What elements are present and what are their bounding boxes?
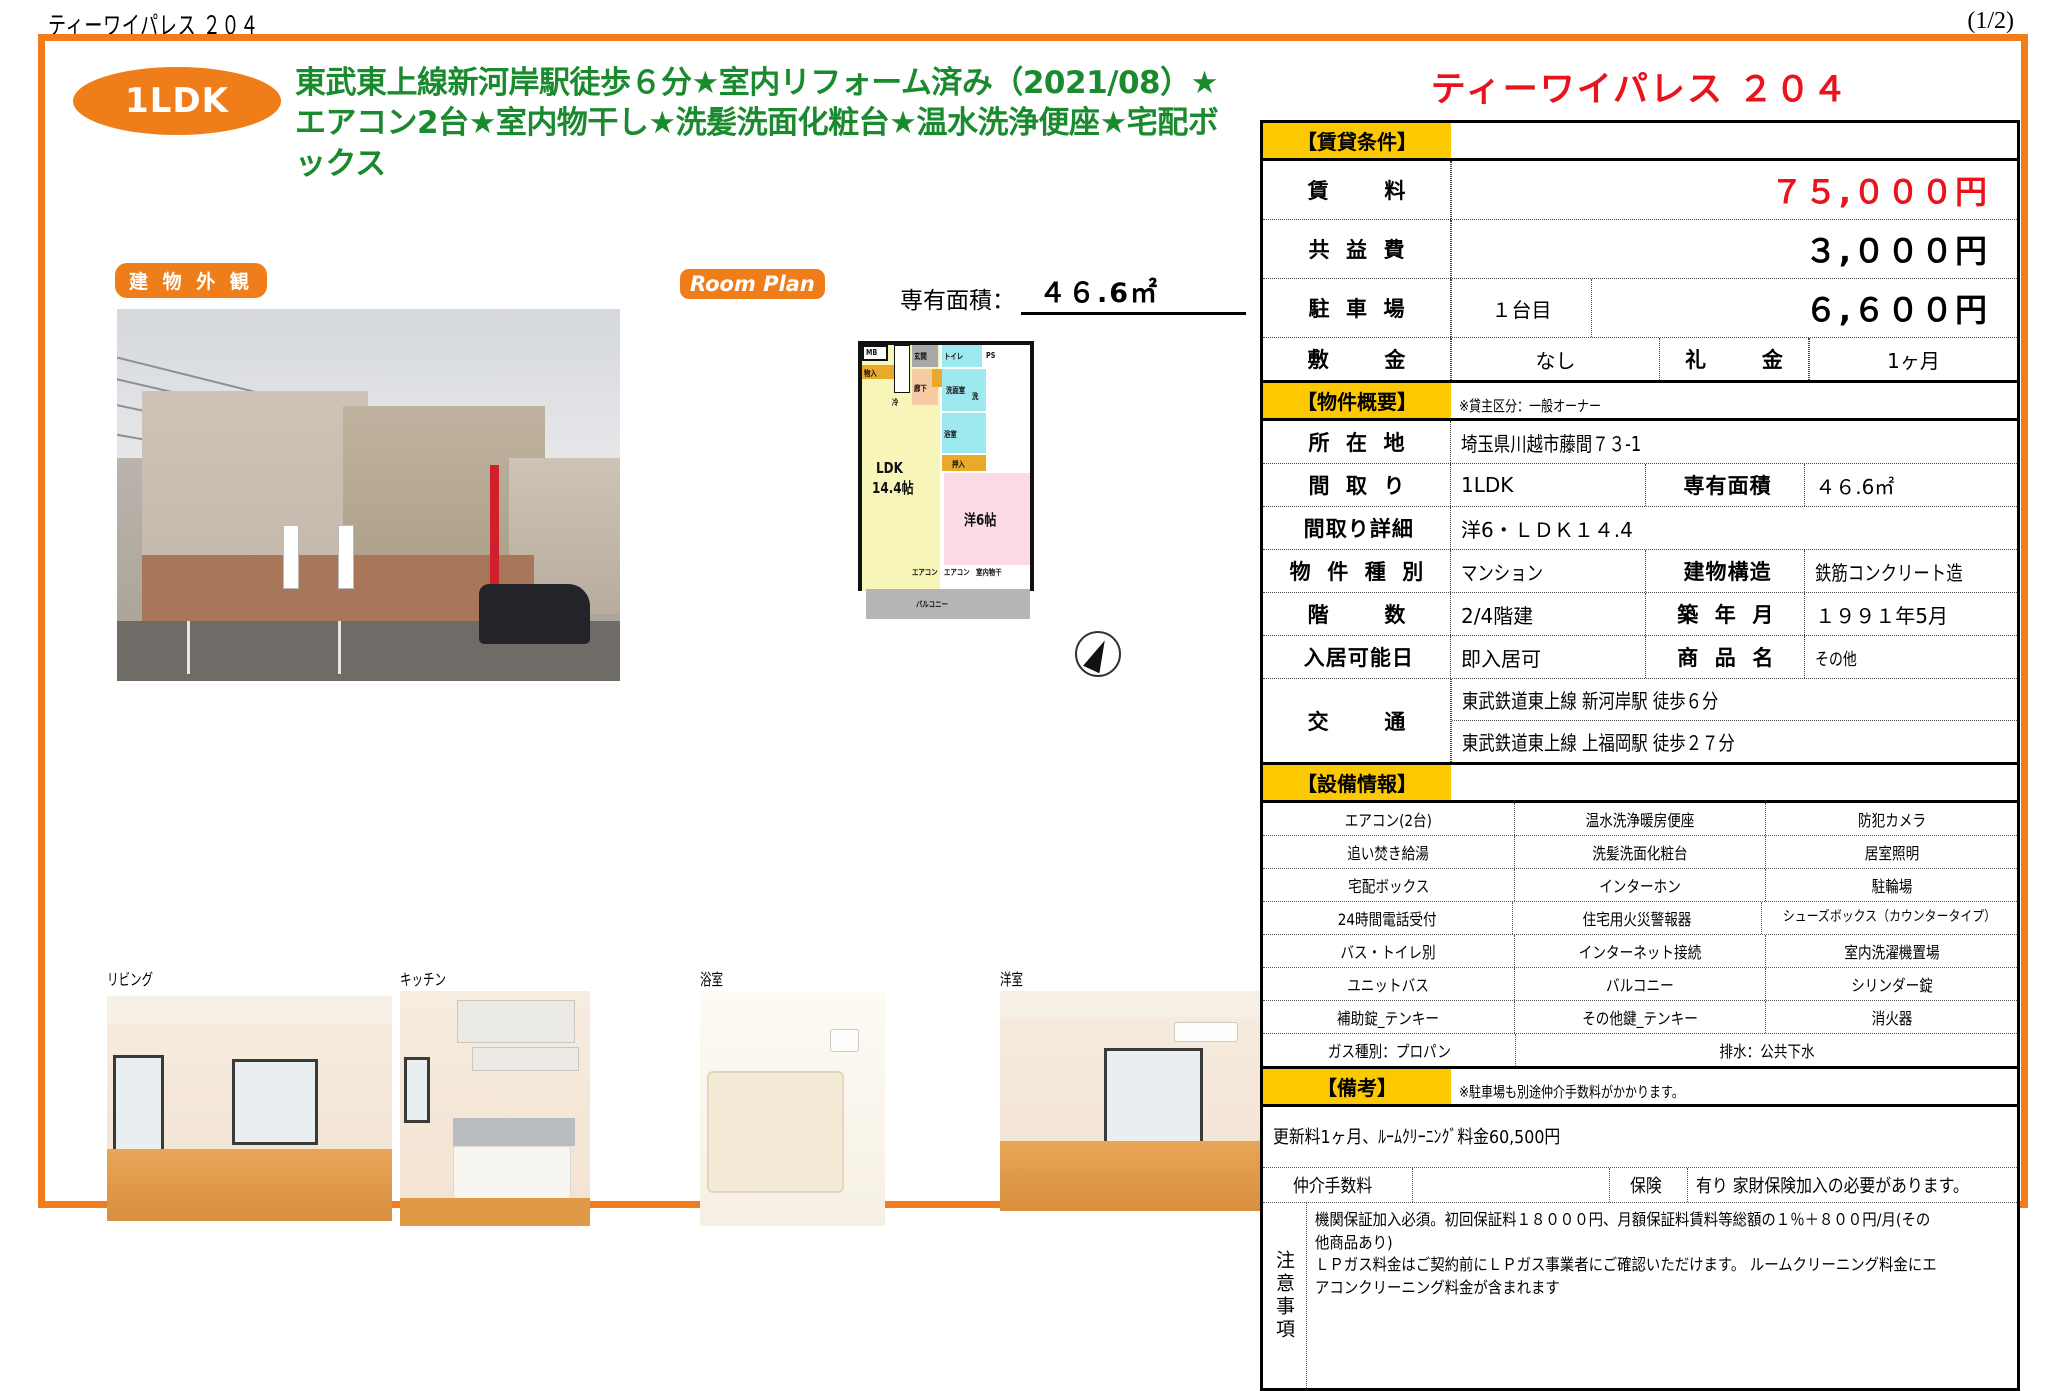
remarks-header: 【備考】 ※駐車場も別途仲介手数料がかかります。 xyxy=(1263,1069,2017,1107)
equipment-item: エアコン(2台) xyxy=(1263,803,1515,835)
built-value: １９９１年5月 xyxy=(1805,593,2017,635)
rent-label: 賃 料 xyxy=(1263,161,1451,219)
property-overview-note: ※貸主区分：一般オーナー xyxy=(1451,383,2017,418)
access-line-2: 東武鉄道東上線 上福岡駅 徒歩２７分 xyxy=(1452,721,2017,762)
parking-value: ６,６００円 xyxy=(1591,279,2017,337)
fee-insurance-row: 仲介手数料 保険 有り 家財保険加入の必要があります。 xyxy=(1263,1168,2017,1203)
area-label: 専有面積 xyxy=(1645,464,1805,506)
notice-body: 機関保証加入必須。初回保証料１８０００円、月額保証料賃料等総額の１％＋８００円/… xyxy=(1307,1203,2017,1388)
exclusive-area-label: 専有面積： xyxy=(900,281,1015,315)
equipment-note xyxy=(1451,765,2017,800)
equipment-item: 洗髪洗面化粧台 xyxy=(1515,836,1767,868)
rental-conditions-block: 【賃貸条件】 賃 料 ７５,０００円 共 益 費 ３,０００円 駐 車 場 １台… xyxy=(1260,120,2020,383)
row-type: 物 件 種 別 マンション 建物構造 鉄筋コンクリート造 xyxy=(1263,550,2017,593)
sink-counter xyxy=(453,1118,575,1146)
photo-label-living: リビング xyxy=(107,966,153,990)
parked-car xyxy=(479,584,590,644)
fp-bathroom-label: 浴室 xyxy=(944,429,957,440)
rental-conditions-header: 【賃貸条件】 xyxy=(1263,123,2017,161)
fp-wash-label: 洗 xyxy=(972,391,978,402)
fp-wall xyxy=(1030,341,1034,591)
fp-mb-label: MB xyxy=(866,348,877,357)
insurance-value: 有り 家財保険加入の必要があります。 xyxy=(1688,1168,2017,1202)
flyer-frame: 1LDK 東武東上線新河岸駅徒歩６分★室内リフォーム済み（2021/08）★エア… xyxy=(38,34,2028,1208)
equipment-item: 24時間電話受付 xyxy=(1263,902,1513,934)
equipment-footer-row: ガス種別：プロパン 排水：公共下水 xyxy=(1263,1034,2017,1066)
notice-section: 注意事項 機関保証加入必須。初回保証料１８０００円、月額保証料賃料等総額の１％＋… xyxy=(1263,1203,2017,1388)
page-indicator: (1/2) xyxy=(1967,8,2014,35)
equipment-row: バス・トイレ別 インターネット接続 室内洗濯機置場 xyxy=(1263,935,2017,968)
stall-line xyxy=(187,621,190,673)
access-label: 交 通 xyxy=(1263,679,1451,762)
row-maintenance: 共 益 費 ３,０００円 xyxy=(1263,220,2017,279)
equipment-row: 宅配ボックス インターホン 駐輪場 xyxy=(1263,869,2017,902)
bathtub xyxy=(707,1071,844,1193)
fp-kitchen-counter xyxy=(894,345,910,393)
photo-western-room xyxy=(1000,991,1290,1211)
fp-toilet-label: トイレ xyxy=(944,351,963,362)
fp-balcony xyxy=(866,589,1030,619)
room-plan-tag: Room Plan xyxy=(680,269,825,299)
product-value: その他 xyxy=(1805,636,2017,678)
row-layout-detail: 間取り詳細 洋6・ＬＤＫ１４.4 xyxy=(1263,507,2017,550)
equipment-item: シューズボックス（カウンタータイプ） xyxy=(1762,902,2017,934)
exclusive-area-value: ４６.6㎡ xyxy=(1021,271,1246,315)
drainage-type: 排水：公共下水 xyxy=(1516,1034,2017,1066)
fp-room-label: 洋6帖 xyxy=(964,509,996,530)
equipment-row: ユニットバス バルコニー シリンダー錠 xyxy=(1263,968,2017,1001)
deposit-value: なし xyxy=(1451,338,1659,380)
equipment-item: 消火器 xyxy=(1766,1001,2017,1033)
row-deposit: 敷 金 なし 礼 金 1ヶ月 xyxy=(1263,338,2017,380)
layout-badge: 1LDK xyxy=(73,67,281,135)
photo-label-western-room: 洋室 xyxy=(1000,966,1023,990)
row-address: 所 在 地 埼玉県川越市藤間７３-1 xyxy=(1263,421,2017,464)
banner-flag xyxy=(283,525,299,589)
window xyxy=(404,1057,431,1123)
equipment-item: 防犯カメラ xyxy=(1766,803,2017,835)
floor-plan-diagram: LDK 14.4帖 MB 物入 冷 玄関 トイレ PS 廊下 洗面室 洗 xyxy=(850,331,1080,661)
equipment-block: 【設備情報】 エアコン(2台) 温水洗浄暖房便座 防犯カメラ 追い焚き給湯 洗髪… xyxy=(1260,765,2020,1069)
built-label: 築 年 月 xyxy=(1645,593,1805,635)
floor xyxy=(107,1149,392,1221)
ceiling xyxy=(1000,991,1290,1017)
exterior-photo-tag: 建 物 外 観 xyxy=(115,263,267,298)
photo-kitchen xyxy=(400,991,590,1226)
brokerage-fee-label: 仲介手数料 xyxy=(1263,1168,1413,1202)
parking-fee-note: ※駐車場も別途仲介手数料がかかります。 xyxy=(1459,1081,1684,1102)
product-label: 商 品 名 xyxy=(1645,636,1805,678)
owner-type-note: ※貸主区分：一般オーナー xyxy=(1459,395,1601,416)
property-overview-header: 【物件概要】 ※貸主区分：一般オーナー xyxy=(1263,383,2017,421)
floor xyxy=(1000,1141,1290,1211)
access-line-1: 東武鉄道東上線 新河岸駅 徒歩６分 xyxy=(1452,679,2017,721)
floors-label: 階 数 xyxy=(1263,593,1451,635)
remarks-note: ※駐車場も別途仲介手数料がかかります。 xyxy=(1451,1069,2017,1104)
area-value: ４６.6㎡ xyxy=(1805,464,2017,506)
property-overview-title: 【物件概要】 xyxy=(1263,383,1451,418)
keymoney-value: 1ヶ月 xyxy=(1809,338,2017,380)
deposit-label: 敷 金 xyxy=(1263,338,1451,380)
photo-bathroom xyxy=(700,991,885,1226)
air-conditioner xyxy=(1174,1022,1238,1042)
notice-line-1: 機関保証加入必須。初回保証料１８０００円、月額保証料賃料等総額の１％＋８００円/… xyxy=(1315,1209,1940,1254)
window xyxy=(1104,1048,1203,1149)
equipment-item: バス・トイレ別 xyxy=(1263,935,1515,967)
control-panel xyxy=(830,1029,860,1053)
keymoney-label: 礼 金 xyxy=(1659,338,1809,380)
equipment-item: インターホン xyxy=(1515,869,1767,901)
row-rent: 賃 料 ７５,０００円 xyxy=(1263,161,2017,220)
fp-fridge-label: 冷 xyxy=(892,397,898,408)
window xyxy=(232,1059,318,1145)
type-value: マンション xyxy=(1451,550,1645,592)
parking-unit: １台目 xyxy=(1451,279,1591,337)
available-label: 入居可能日 xyxy=(1263,636,1451,678)
row-layout: 間 取 り 1LDK 専有面積 ４６.6㎡ xyxy=(1263,464,2017,507)
exclusive-area-callout: 専有面積： ４６.6㎡ xyxy=(900,271,1246,315)
fp-corridor-label: 廊下 xyxy=(914,383,927,394)
notice-label: 注意事項 xyxy=(1263,1203,1307,1388)
structure-label: 建物構造 xyxy=(1645,550,1805,592)
left-column: 1LDK 東武東上線新河岸駅徒歩６分★室内リフォーム済み（2021/08）★エア… xyxy=(45,41,1270,1201)
fp-ldk-label: LDK xyxy=(876,459,903,477)
photo-label-kitchen: キッチン xyxy=(400,966,446,990)
equipment-item: 住宅用火災警報器 xyxy=(1513,902,1763,934)
fp-ac-1: エアコン xyxy=(912,567,938,578)
fp-washroom-label: 洗面室 xyxy=(946,385,965,396)
ceiling xyxy=(107,996,392,1023)
parking-label: 駐 車 場 xyxy=(1263,279,1451,337)
layout-detail-label: 間取り詳細 xyxy=(1263,507,1451,549)
equipment-item: バルコニー xyxy=(1515,968,1767,1000)
fp-closet-1-label: 物入 xyxy=(864,368,877,379)
equipment-item: シリンダー錠 xyxy=(1766,968,2017,1000)
structure-value: 鉄筋コンクリート造 xyxy=(1805,550,2017,592)
address-label: 所 在 地 xyxy=(1263,421,1451,463)
equipment-item: 宅配ボックス xyxy=(1263,869,1515,901)
renewal-cleaning-text: 更新料1ヶ月、ﾙｰﾑｸﾘｰﾆﾝｸﾞ料金60,500円 xyxy=(1263,1107,2017,1168)
remarks-title: 【備考】 xyxy=(1263,1069,1451,1104)
fp-ps-label: PS xyxy=(986,351,995,360)
row-access: 交 通 東武鉄道東上線 新河岸駅 徒歩６分 東武鉄道東上線 上福岡駅 徒歩２７分 xyxy=(1263,679,2017,762)
type-label: 物 件 種 別 xyxy=(1263,550,1451,592)
brokerage-fee-value xyxy=(1413,1168,1610,1202)
doorway xyxy=(113,1055,164,1159)
fp-ldk-size: 14.4帖 xyxy=(872,477,914,498)
photo-label-bathroom: 浴室 xyxy=(700,966,723,990)
equipment-row: 追い焚き給湯 洗髪洗面化粧台 居室照明 xyxy=(1263,836,2017,869)
fp-entrance-label: 玄関 xyxy=(914,351,927,362)
equipment-item: ユニットバス xyxy=(1263,968,1515,1000)
row-parking: 駐 車 場 １台目 ６,６００円 xyxy=(1263,279,2017,338)
range-hood xyxy=(457,1000,575,1042)
rent-value: ７５,０００円 xyxy=(1451,161,2017,219)
right-column: ティーワイパレス ２０４ 【賃貸条件】 賃 料 ７５,０００円 共 益 費 ３,… xyxy=(1260,47,2020,1207)
address-value: 埼玉県川越市藤間７３-1 xyxy=(1451,421,2017,463)
layout-label: 間 取 り xyxy=(1263,464,1451,506)
equipment-row: 補助錠_テンキー その他鍵_テンキー 消火器 xyxy=(1263,1001,2017,1034)
photo-living xyxy=(107,996,392,1221)
insurance-label: 保険 xyxy=(1610,1168,1688,1202)
row-available: 入居可能日 即入居可 商 品 名 その他 xyxy=(1263,636,2017,679)
fp-ac-2: エアコン xyxy=(944,567,970,578)
equipment-item: 駐輪場 xyxy=(1766,869,2017,901)
shelf xyxy=(472,1047,578,1071)
equipment-row: エアコン(2台) 温水洗浄暖房便座 防犯カメラ xyxy=(1263,803,2017,836)
layout-detail-value: 洋6・ＬＤＫ１４.4 xyxy=(1451,507,2017,549)
catchcopy: 東武東上線新河岸駅徒歩６分★室内リフォーム済み（2021/08）★エアコン2台★… xyxy=(295,63,1240,184)
equipment-item: その他鍵_テンキー xyxy=(1515,1001,1767,1033)
floor xyxy=(400,1198,590,1226)
maintenance-value: ３,０００円 xyxy=(1451,220,2017,278)
equipment-row: 24時間電話受付 住宅用火災警報器 シューズボックス（カウンタータイプ） xyxy=(1263,902,2017,935)
floors-value: 2/4階建 xyxy=(1451,593,1645,635)
row-floors: 階 数 2/4階建 築 年 月 １９９１年5月 xyxy=(1263,593,2017,636)
compass-icon xyxy=(1075,631,1121,677)
rental-conditions-note xyxy=(1451,123,2017,158)
banner-flag xyxy=(338,525,354,589)
property-title: ティーワイパレス ２０４ xyxy=(1260,61,2020,112)
notice-line-2: ＬＰガス料金はご契約前にＬＰガス事業者にご確認いただけます。 ルームクリーニング… xyxy=(1315,1254,1940,1299)
layout-value: 1LDK xyxy=(1451,464,1645,506)
stall-line xyxy=(338,621,341,673)
property-overview-block: 【物件概要】 ※貸主区分：一般オーナー 所 在 地 埼玉県川越市藤間７３-1 間… xyxy=(1260,383,2020,765)
remarks-block: 【備考】 ※駐車場も別途仲介手数料がかかります。 更新料1ヶ月、ﾙｰﾑｸﾘｰﾆﾝ… xyxy=(1260,1069,2020,1391)
gas-type: ガス種別：プロパン xyxy=(1263,1034,1516,1066)
exterior-building-photo xyxy=(117,309,620,681)
equipment-item: インターネット接続 xyxy=(1515,935,1767,967)
fp-balcony-label: バルコニー xyxy=(916,599,948,610)
equipment-item: 補助錠_テンキー xyxy=(1263,1001,1515,1033)
fp-closet-2-label: 押入 xyxy=(952,459,965,470)
equipment-header: 【設備情報】 xyxy=(1263,765,2017,803)
equipment-item: 温水洗浄暖房便座 xyxy=(1515,803,1767,835)
fp-dryer: 室内物干 xyxy=(976,567,1002,578)
access-values: 東武鉄道東上線 新河岸駅 徒歩６分 東武鉄道東上線 上福岡駅 徒歩２７分 xyxy=(1451,679,2017,762)
equipment-item: 追い焚き給湯 xyxy=(1263,836,1515,868)
equipment-item: 室内洗濯機置場 xyxy=(1766,935,2017,967)
rental-conditions-title: 【賃貸条件】 xyxy=(1263,123,1451,158)
maintenance-label: 共 益 費 xyxy=(1263,220,1451,278)
available-value: 即入居可 xyxy=(1451,636,1645,678)
equipment-item: 居室照明 xyxy=(1766,836,2017,868)
equipment-title: 【設備情報】 xyxy=(1263,765,1451,800)
